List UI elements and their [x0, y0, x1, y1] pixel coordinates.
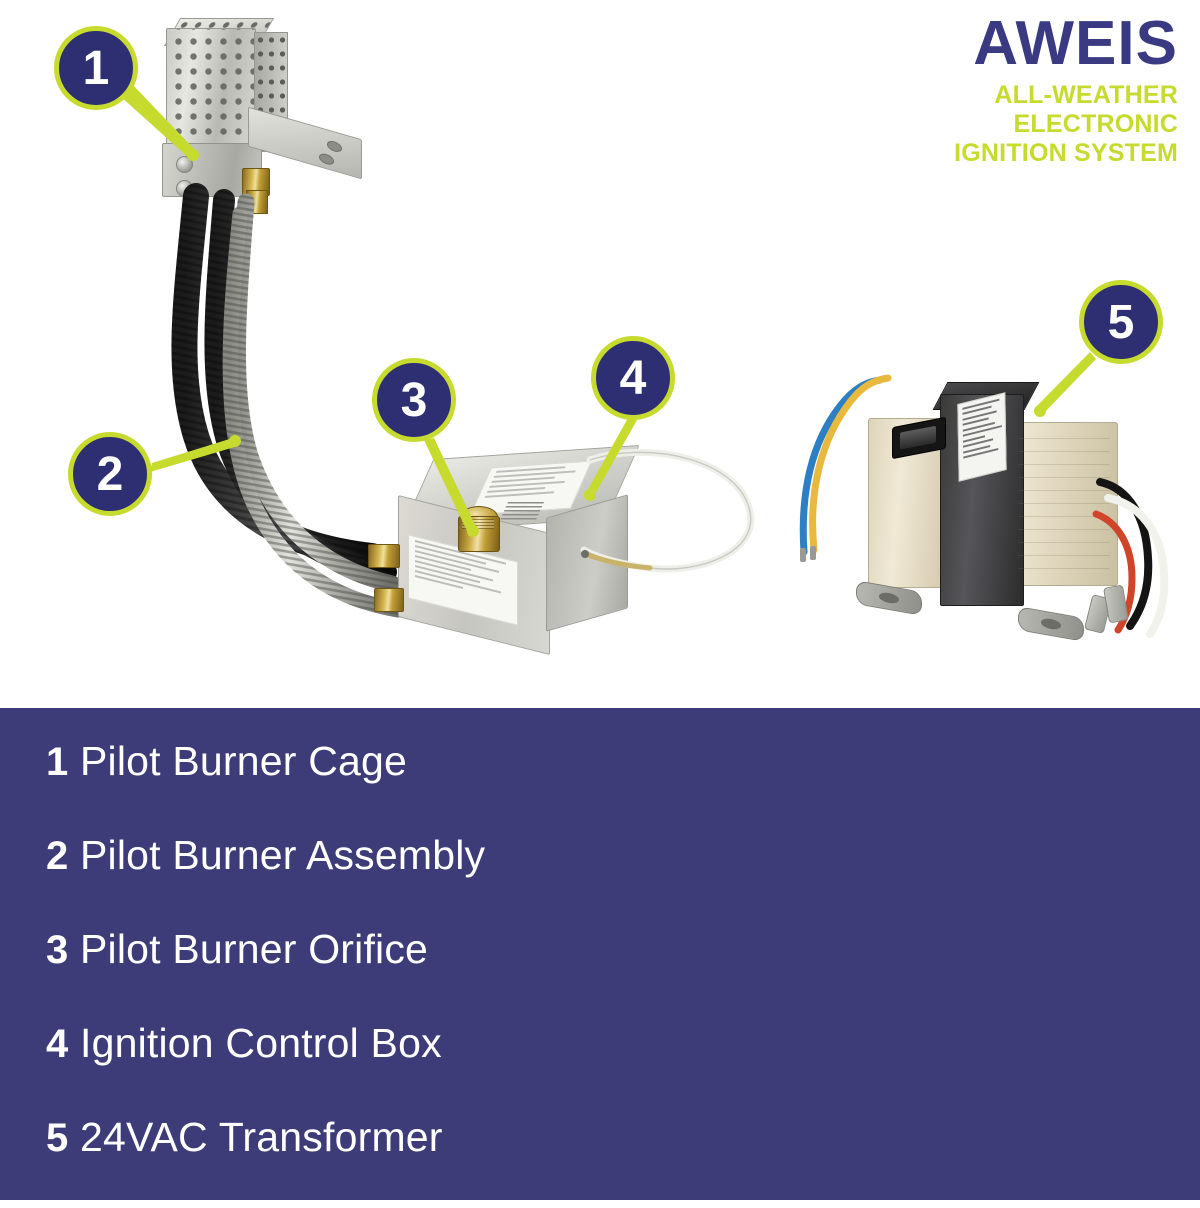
control-box-inlet-fitting-lower: [374, 588, 404, 612]
callout-marker-3[interactable]: 3: [372, 358, 456, 442]
transformer-mounting-foot-right: [1018, 606, 1084, 642]
transformer-photo: [840, 380, 1170, 650]
legend-item-5: 5 24VAC Transformer: [0, 1114, 1200, 1208]
legend-item-4: 4 Ignition Control Box: [0, 1020, 1200, 1114]
brand-tagline-line-3: IGNITION SYSTEM: [878, 139, 1178, 168]
callout-marker-5[interactable]: 5: [1079, 280, 1163, 364]
control-box-inlet-fitting-upper: [368, 544, 400, 568]
legend-number-1: 1: [0, 740, 80, 785]
legend-label-1: Pilot Burner Cage: [80, 738, 407, 785]
legend-label-2: Pilot Burner Assembly: [80, 832, 485, 879]
legend-number-3: 3: [0, 928, 80, 973]
legend-label-4: Ignition Control Box: [80, 1020, 442, 1067]
brand-tagline-line-1: ALL-WEATHER: [878, 81, 1178, 110]
product-diagram: 1 2 3 4 5 AWEIS ALL-WEATHER ELECTRONIC I…: [0, 0, 1200, 1200]
legend-label-3: Pilot Burner Orifice: [80, 926, 428, 973]
brand-tagline: ALL-WEATHER ELECTRONIC IGNITION SYSTEM: [878, 81, 1178, 168]
ignition-control-box-photo: [398, 452, 698, 667]
callout-marker-2[interactable]: 2: [68, 432, 152, 516]
product-photo-area: 1 2 3 4 5 AWEIS ALL-WEATHER ELECTRONIC I…: [0, 0, 1200, 708]
brand-logo: AWEIS ALL-WEATHER ELECTRONIC IGNITION SY…: [878, 14, 1178, 168]
pilot-burner-orifice-photo: [458, 506, 498, 552]
brand-wordmark: AWEIS: [878, 14, 1178, 75]
callout-marker-4[interactable]: 4: [591, 336, 675, 420]
legend-number-4: 4: [0, 1022, 80, 1067]
legend-number-2: 2: [0, 834, 80, 879]
transformer-spec-label: [957, 392, 1006, 482]
legend-item-3: 3 Pilot Burner Orifice: [0, 926, 1200, 1020]
legend-panel: 1 Pilot Burner Cage 2 Pilot Burner Assem…: [0, 708, 1200, 1200]
legend-label-5: 24VAC Transformer: [80, 1114, 443, 1161]
callout-marker-1[interactable]: 1: [54, 26, 138, 110]
brand-tagline-line-2: ELECTRONIC: [878, 110, 1178, 139]
legend-item-1: 1 Pilot Burner Cage: [0, 738, 1200, 832]
legend-number-5: 5: [0, 1116, 80, 1161]
control-box-wire-loop: [580, 442, 770, 602]
legend-item-2: 2 Pilot Burner Assembly: [0, 832, 1200, 926]
